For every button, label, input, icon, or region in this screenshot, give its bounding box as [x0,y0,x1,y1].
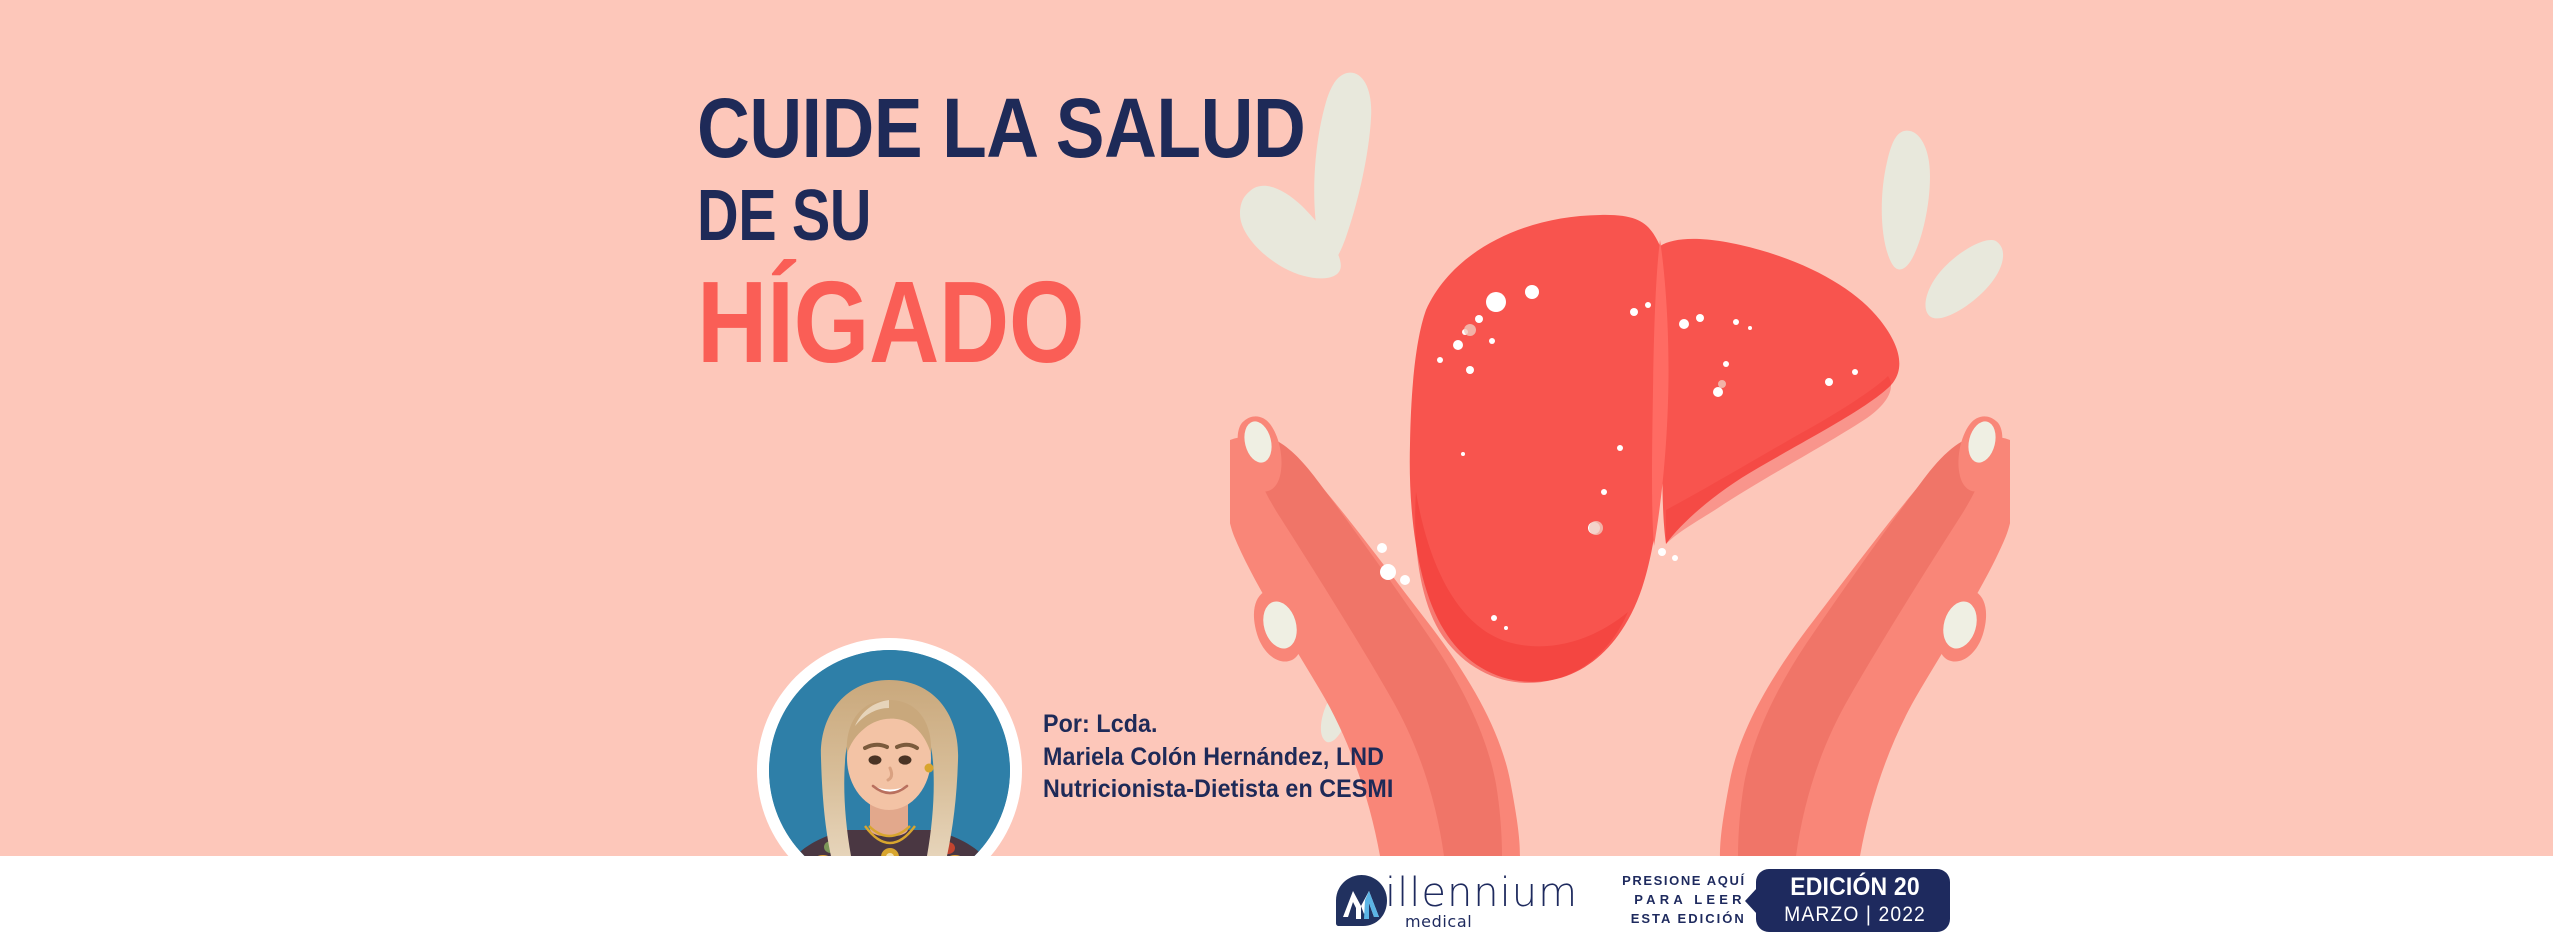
byline-block: Por: Lcda. Mariela Colón Hernández, LND … [1043,708,1420,806]
headline-line-1: CUIDE LA SALUD [697,86,1305,170]
cta-line-1: PRESIONE AQUÍ [1622,872,1746,891]
byline-line-2: Mariela Colón Hernández, LND [1043,741,1393,774]
headshot-illustration [769,650,1010,891]
byline-line-3: Nutricionista-Dietista en CESMI [1043,773,1393,806]
newsletter-banner: CUIDE LA SALUD DE SU HÍGADO Por: Lcda. M… [0,0,2553,945]
headline-line-2: DE SU [697,180,1256,252]
m-monogram-icon [1335,874,1388,927]
sparkle-leaves-right [1882,131,2003,319]
cta-line-2: PARA LEER [1622,891,1746,910]
logo-wordmark-main: illennium [1385,873,1578,913]
edition-date: MARZO | 2022 [1784,904,1926,925]
edition-badge[interactable]: EDICIÓN 20 MARZO | 2022 [1756,869,1950,932]
millennium-medical-logo[interactable]: illennium medical [1335,872,1578,929]
cta-instruction-text: PRESIONE AQUÍ PARA LEER ESTA EDICIÓN [1622,872,1746,929]
avatar-photo [769,650,1010,891]
right-hand [1720,416,2010,856]
logo-wordmark: illennium medical [1391,873,1578,930]
footer-content: illennium medical PRESIONE AQUÍ PARA LEE… [1335,856,1950,945]
footer-bar: illennium medical PRESIONE AQUÍ PARA LEE… [0,856,2553,945]
read-edition-cta[interactable]: PRESIONE AQUÍ PARA LEER ESTA EDICIÓN EDI… [1622,869,1950,932]
headline-line-3: HÍGADO [697,264,1284,380]
edition-number: EDICIÓN 20 [1784,875,1926,900]
headline-block: CUIDE LA SALUD DE SU HÍGADO [697,86,1396,380]
cta-line-3: ESTA EDICIÓN [1622,910,1746,929]
hero-stage: CUIDE LA SALUD DE SU HÍGADO Por: Lcda. M… [0,0,2553,856]
byline-line-1: Por: Lcda. [1043,708,1393,741]
logo-wordmark-sub: medical [1405,914,1578,930]
